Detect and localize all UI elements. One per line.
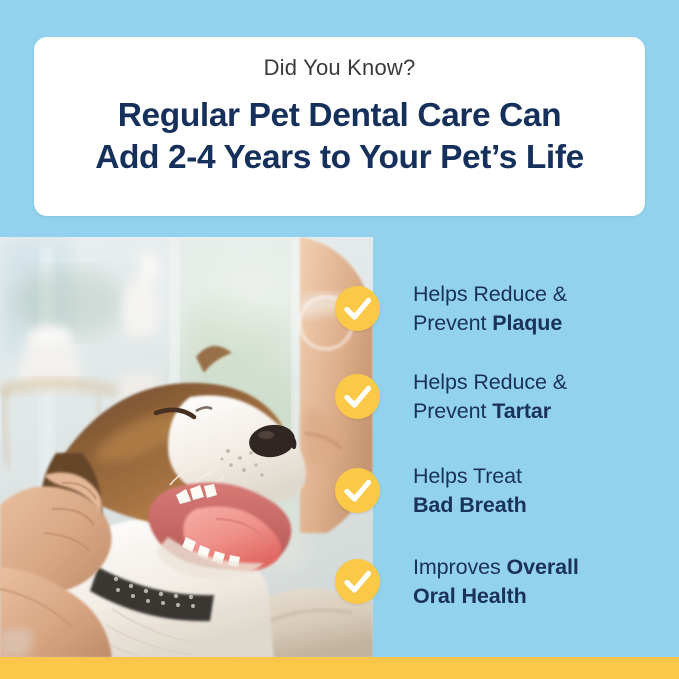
list-item-text: Improves Overall Oral Health [413,546,579,610]
list-item-text: Helps Reduce & Prevent Tartar [413,361,567,425]
list-item: Helps Treat Bad Breath [330,455,679,519]
benefit-line-2: Bad Breath [413,491,527,520]
list-item: Improves Overall Oral Health [330,546,679,610]
benefit-line-2: Prevent Plaque [413,309,567,338]
list-item-text: Helps Treat Bad Breath [413,455,527,519]
benefit-line-2: Prevent Tartar [413,397,567,426]
benefit-line-2: Oral Health [413,582,579,611]
infographic-root: Did You Know? Regular Pet Dental Care Ca… [0,0,679,679]
check-icon [335,286,380,331]
check-icon [335,559,380,604]
benefit-line-1: Improves Overall [413,553,579,582]
list-item: Helps Reduce & Prevent Tartar [330,361,679,425]
list-item-text: Helps Reduce & Prevent Plaque [413,273,567,337]
check-icon [335,374,380,419]
footer-accent-bar [0,663,679,679]
headline-line-2: Add 2-4 Years to Your Pet’s Life [34,137,645,179]
dog-and-owner-photo [0,237,373,658]
benefit-line-1: Helps Treat [413,462,527,491]
headline-line-1: Regular Pet Dental Care Can [118,97,561,134]
benefit-line-1: Helps Reduce & [413,368,567,397]
benefit-line-1: Helps Reduce & [413,280,567,309]
eyebrow-text: Did You Know? [264,56,416,80]
page-title: Regular Pet Dental Care Can Add 2-4 Year… [34,95,645,179]
list-item: Helps Reduce & Prevent Plaque [330,273,679,337]
benefits-list: Helps Reduce & Prevent Plaque Helps Redu… [330,237,679,658]
check-icon [335,468,380,513]
header-card: Did You Know? Regular Pet Dental Care Ca… [34,37,645,216]
